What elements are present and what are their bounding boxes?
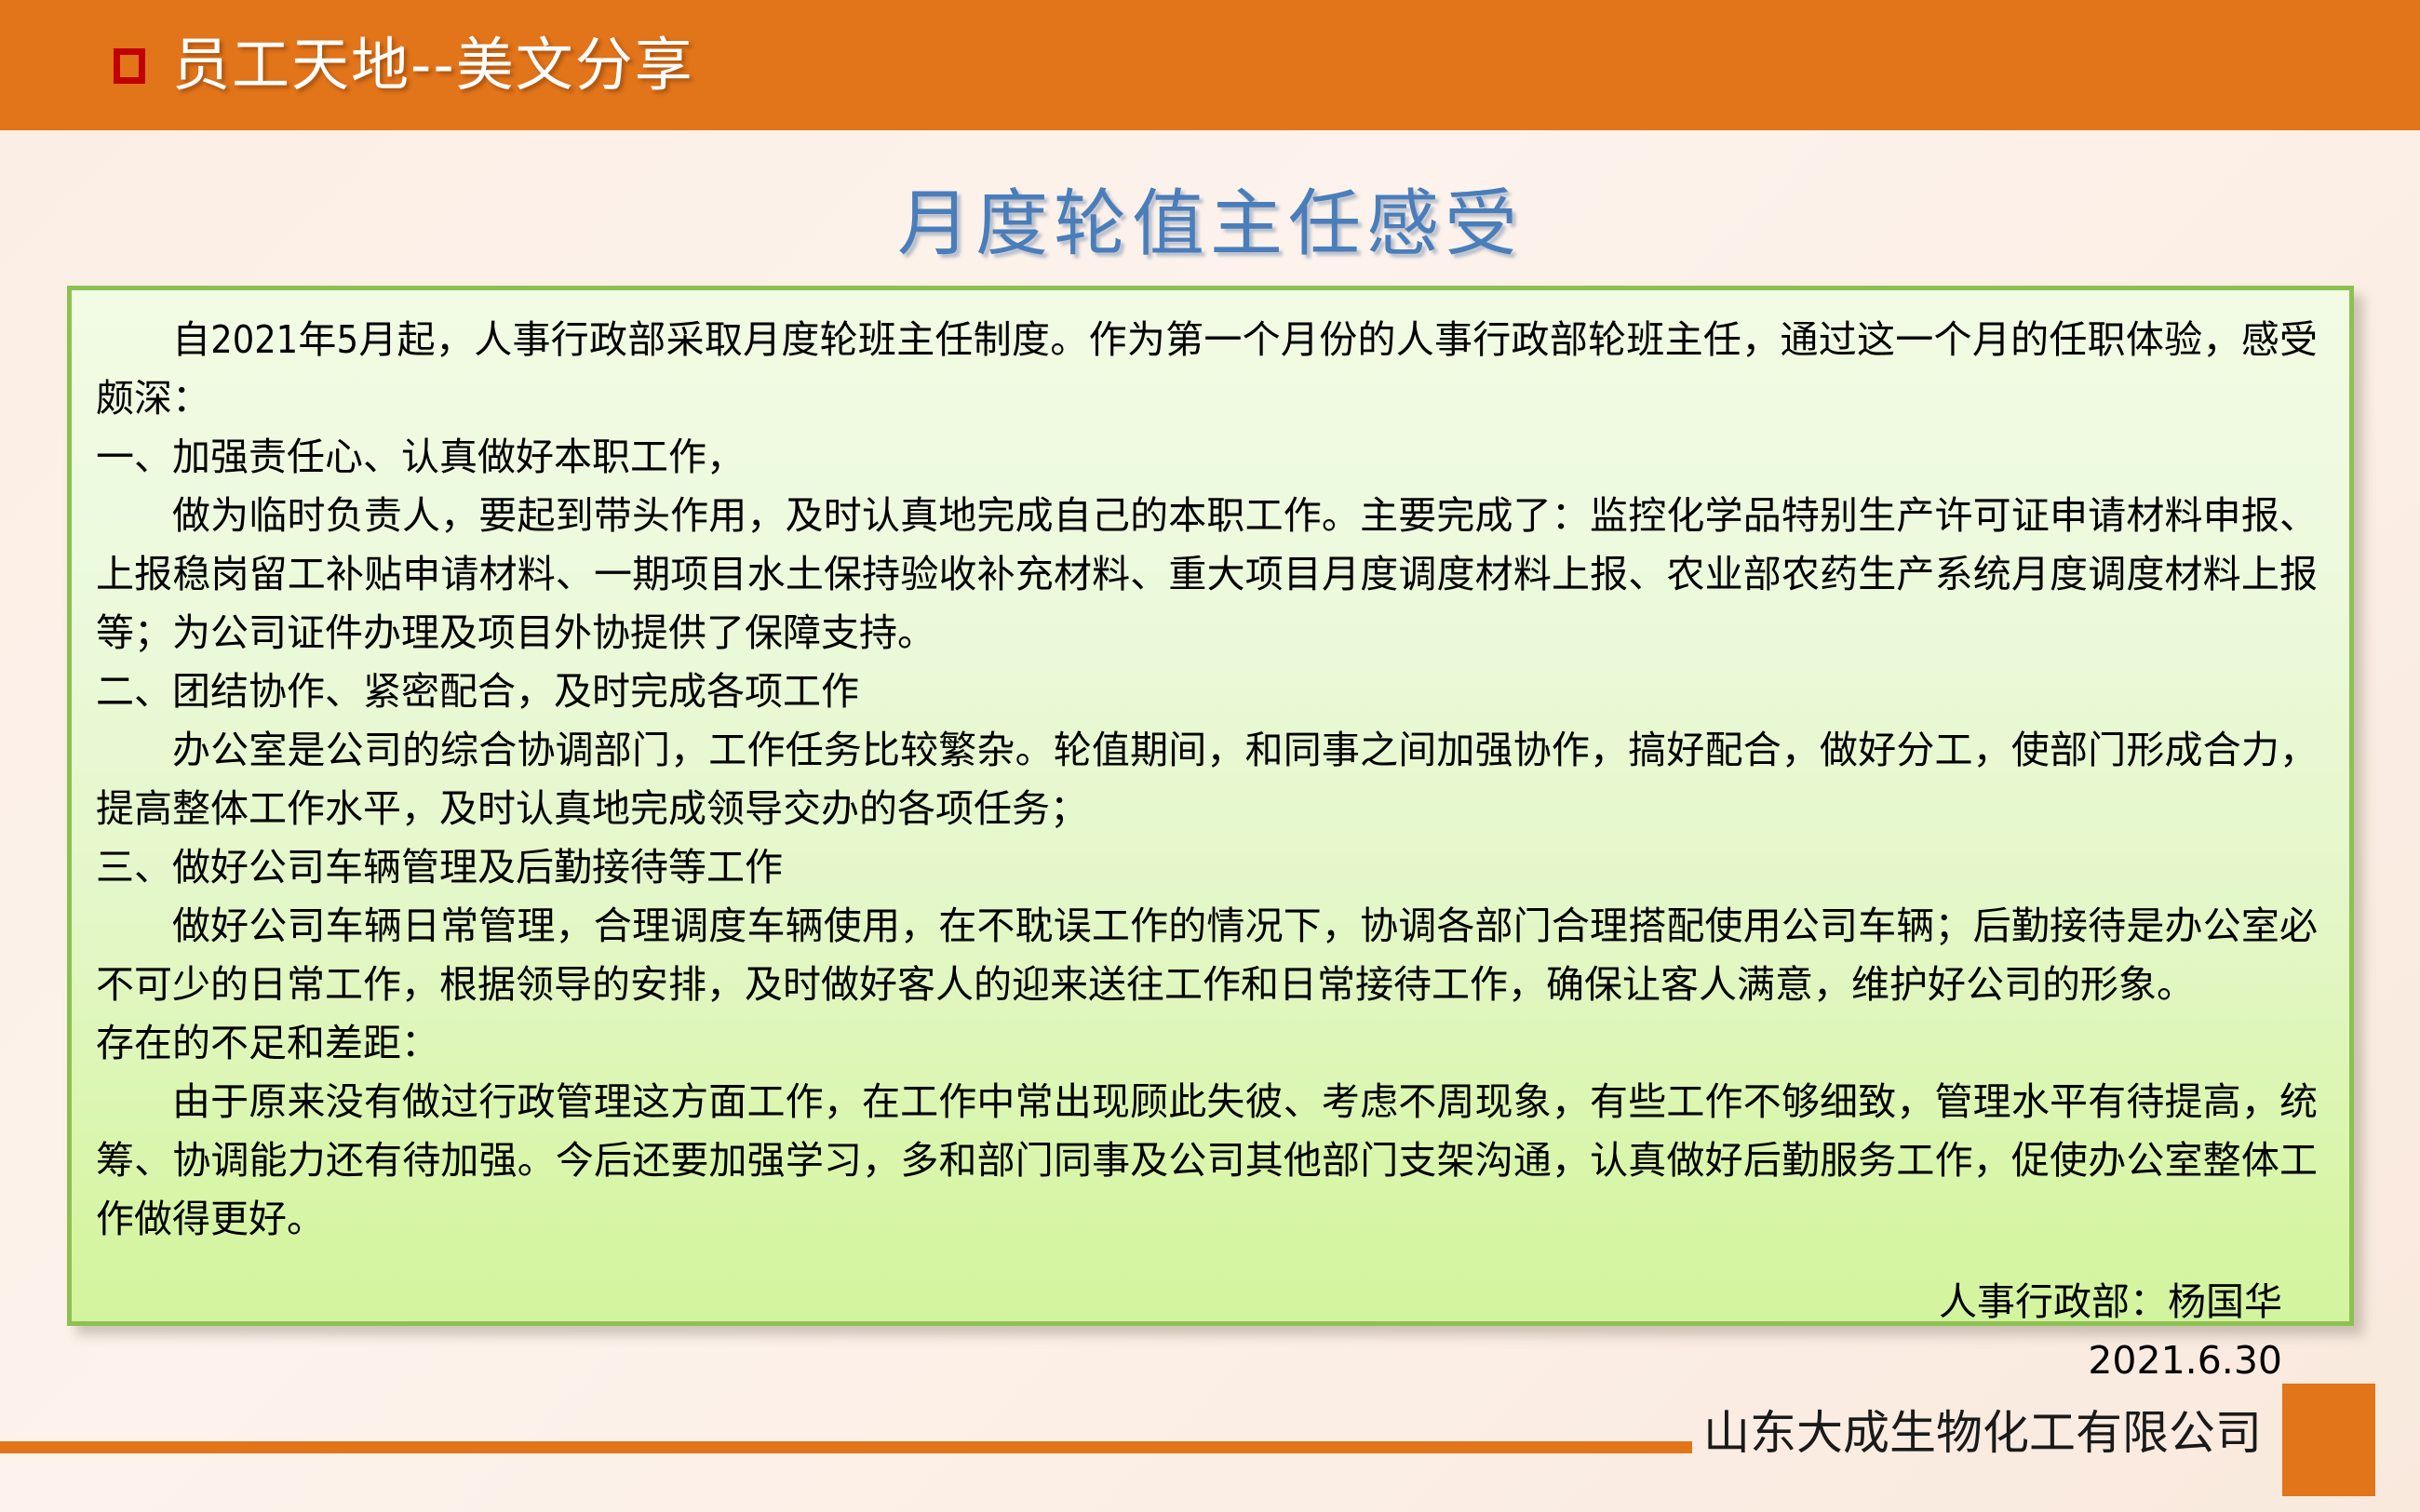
footer-company-name: 山东大成生物化工有限公司: [1703, 1396, 2262, 1463]
footer-rule: [0, 1441, 1692, 1453]
paragraph-two-body: 办公室是公司的综合协调部门，工作任务比较繁杂。轮值期间，和同事之间加强协作，搞好…: [96, 721, 2318, 838]
section-heading-shortcomings: 存在的不足和差距：: [96, 1014, 2318, 1073]
section-heading-three: 三、做好公司车辆管理及后勤接待等工作: [96, 838, 2318, 897]
content-card: 自2021年5月起，人事行政部采取月度轮班主任制度。作为第一个月份的人事行政部轮…: [67, 286, 2354, 1326]
paragraph-one-body: 做为临时负责人，要起到带头作用，及时认真地完成自己的本职工作。主要完成了：监控化…: [96, 487, 2318, 662]
header-title: 员工天地--美文分享: [172, 19, 694, 112]
section-heading-one: 一、加强责任心、认真做好本职工作，: [96, 428, 2318, 487]
header-banner: 员工天地--美文分享: [0, 0, 2420, 130]
footer-accent-block: [2282, 1384, 2375, 1496]
page-title: 月度轮值主任感受: [0, 166, 2420, 270]
signature-date: 2021.6.30: [96, 1331, 2318, 1390]
signature-name: 人事行政部：杨国华: [96, 1273, 2318, 1331]
square-bullet-icon: [114, 48, 145, 84]
paragraph-intro: 自2021年5月起，人事行政部采取月度轮班主任制度。作为第一个月份的人事行政部轮…: [96, 311, 2318, 428]
paragraph-shortcomings-body: 由于原来没有做过行政管理这方面工作，在工作中常出现顾此失彼、考虑不周现象，有些工…: [96, 1073, 2318, 1249]
section-heading-two: 二、团结协作、紧密配合，及时完成各项工作: [96, 662, 2318, 721]
paragraph-three-body: 做好公司车辆日常管理，合理调度车辆使用，在不耽误工作的情况下，协调各部门合理搭配…: [96, 897, 2318, 1014]
